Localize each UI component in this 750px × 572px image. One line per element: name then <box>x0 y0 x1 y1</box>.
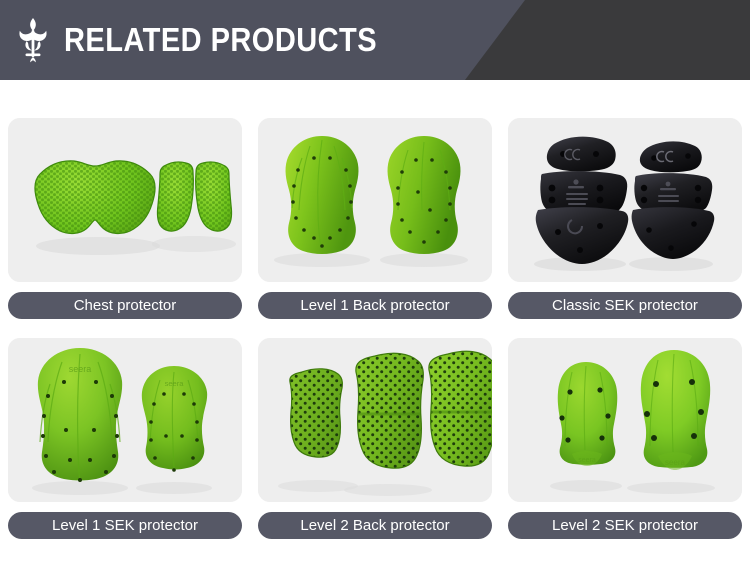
page-title: RELATED PRODUCTS <box>64 21 377 59</box>
product-image-level-2-sek-protector[interactable]: seera seera <box>508 338 742 502</box>
product-card-classic-sek-protector[interactable]: Classic SEK protector <box>508 118 742 319</box>
product-image-level-1-back-protector[interactable] <box>258 118 492 282</box>
product-card-level-1-back-protector[interactable]: Level 1 Back protector <box>258 118 492 319</box>
product-label-level-2-back-protector[interactable]: Level 2 Back protector <box>258 512 492 539</box>
product-card-chest-protector[interactable]: Chest protector <box>8 118 242 319</box>
svg-text:seera: seera <box>578 457 596 464</box>
product-label-chest-protector[interactable]: Chest protector <box>8 292 242 319</box>
product-label-classic-sek-protector[interactable]: Classic SEK protector <box>508 292 742 319</box>
product-label-level-1-sek-protector[interactable]: Level 1 SEK protector <box>8 512 242 539</box>
product-label-level-2-sek-protector[interactable]: Level 2 SEK protector <box>508 512 742 539</box>
product-image-level-2-back-protector[interactable] <box>258 338 492 502</box>
svg-text:seera: seera <box>665 458 686 467</box>
product-card-level-1-sek-protector[interactable]: seera seera <box>8 338 242 539</box>
svg-text:seera: seera <box>165 379 185 388</box>
fleur-de-lis-icon <box>16 17 50 63</box>
related-products-header: RELATED PRODUCTS <box>0 0 750 80</box>
product-label-level-1-back-protector[interactable]: Level 1 Back protector <box>258 292 492 319</box>
product-card-level-2-back-protector[interactable]: Level 2 Back protector <box>258 338 492 539</box>
product-image-classic-sek-protector[interactable] <box>508 118 742 282</box>
product-image-chest-protector[interactable] <box>8 118 242 282</box>
product-grid: Chest protector <box>0 80 750 539</box>
svg-text:seera: seera <box>69 364 92 374</box>
product-image-level-1-sek-protector[interactable]: seera seera <box>8 338 242 502</box>
product-card-level-2-sek-protector[interactable]: seera seera Level 2 SEK protector <box>508 338 742 539</box>
